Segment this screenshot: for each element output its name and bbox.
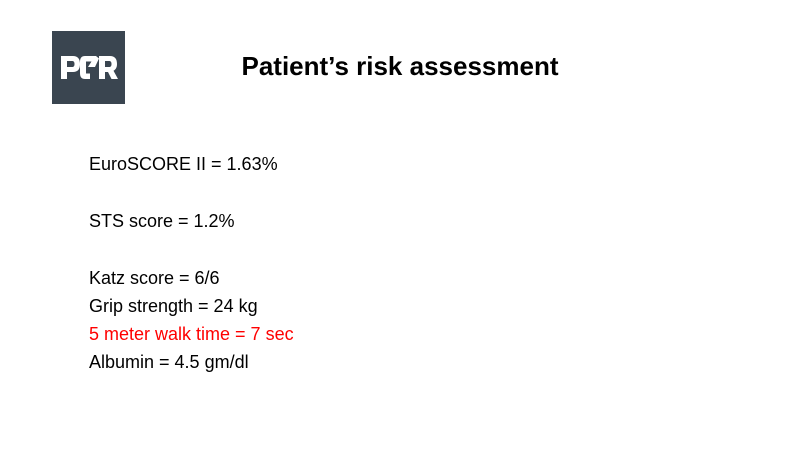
risk-item-albumin: Albumin = 4.5 gm/dl <box>89 348 689 376</box>
risk-item-katz-score: Katz score = 6/6 <box>89 264 689 292</box>
risk-item-grip-strength: Grip strength = 24 kg <box>89 292 689 320</box>
slide-title: Patient’s risk assessment <box>0 50 800 82</box>
risk-assessment-list: EuroSCORE II = 1.63% STS score = 1.2% Ka… <box>89 150 689 376</box>
slide-canvas: Patient’s risk assessment EuroSCORE II =… <box>0 0 800 450</box>
risk-item-walk-time: 5 meter walk time = 7 sec <box>89 320 689 348</box>
risk-item-sts-score: STS score = 1.2% <box>89 207 689 235</box>
risk-item-euroscore: EuroSCORE II = 1.63% <box>89 150 689 178</box>
